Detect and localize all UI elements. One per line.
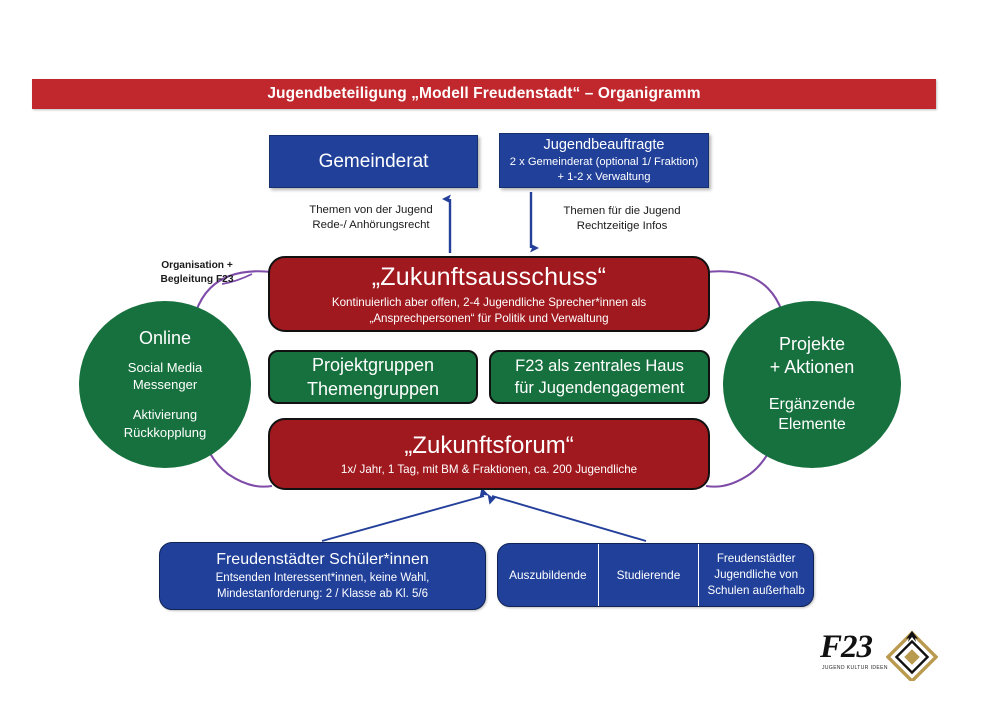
box-jugendbeauftragte-heading: Jugendbeauftragte	[544, 137, 665, 155]
label-themen-fuer-die-jugend: Themen für die Jugend Rechtzeitige Infos	[547, 204, 697, 235]
column-jugendliche-schulen-ausserhalb[interactable]: Freudenstädter Jugendliche von Schulen a…	[698, 544, 813, 606]
page-title: Jugendbeteiligung „Modell Freudenstadt“ …	[267, 85, 700, 103]
box-projektgruppen-heading: Projektgruppen Themengruppen	[307, 353, 439, 402]
box-zukunftsforum-subtext: 1x/ Jahr, 1 Tag, mit BM & Fraktionen, ca…	[341, 463, 637, 477]
box-projektgruppen[interactable]: Projektgruppen Themengruppen	[268, 350, 478, 404]
box-zukunftsforum[interactable]: „Zukunftsforum“ 1x/ Jahr, 1 Tag, mit BM …	[268, 418, 710, 490]
box-zukunftsausschuss-subtext: Kontinuierlich aber offen, 2-4 Jugendlic…	[280, 295, 698, 326]
circle-online-line2: Aktivierung Rückkopplung	[124, 406, 206, 441]
f23-logo-wordmark: F23	[820, 629, 872, 666]
arrow-weitere-to-forum	[492, 496, 646, 541]
box-weitere-zielgruppen[interactable]: Auszubildende Studierende Freudenstädter…	[497, 543, 814, 607]
column-auszubildende[interactable]: Auszubildende	[498, 544, 598, 606]
f23-logo-tagline: JUGEND KULTUR IDEEN	[822, 665, 888, 671]
box-gemeinderat[interactable]: Gemeinderat	[269, 135, 478, 188]
box-f23-zentrales-haus[interactable]: F23 als zentrales Haus für Jugendengagem…	[489, 350, 710, 404]
label-organisation-begleitung-f23: Organisation + Begleitung F23	[147, 259, 247, 288]
circle-projekte-heading: Projekte + Aktionen	[770, 333, 855, 380]
box-schuelerinnen-heading: Freudenstädter Schüler*innen	[216, 550, 429, 570]
box-gemeinderat-heading: Gemeinderat	[319, 150, 429, 173]
circle-online-heading: Online	[139, 328, 191, 350]
f23-logo: F23 JUGEND KULTUR IDEEN	[818, 627, 940, 685]
box-f23-haus-heading: F23 als zentrales Haus für Jugendengagem…	[515, 355, 685, 400]
box-zukunftsausschuss-heading: „Zukunftsausschuss“	[372, 262, 606, 293]
arrow-schuelerinnen-to-forum	[322, 496, 484, 541]
circle-online[interactable]: Online Social Media Messenger Aktivierun…	[79, 301, 251, 468]
box-jugendbeauftragte[interactable]: Jugendbeauftragte 2 x Gemeinderat (optio…	[499, 133, 709, 188]
box-freudenstaedter-schuelerinnen[interactable]: Freudenstädter Schüler*innen Entsenden I…	[159, 542, 486, 610]
box-schuelerinnen-subtext: Entsenden Interessent*innen, keine Wahl,…	[168, 571, 477, 602]
f23-diamond-emblem	[886, 629, 938, 681]
column-studierende[interactable]: Studierende	[598, 544, 699, 606]
box-zukunftsausschuss[interactable]: „Zukunftsausschuss“ Kontinuierlich aber …	[268, 256, 710, 332]
label-themen-von-der-jugend: Themen von der Jugend Rede-/ Anhörungsre…	[296, 203, 446, 234]
organigramm-slide: Jugendbeteiligung „Modell Freudenstadt“ …	[0, 0, 1000, 702]
box-jugendbeauftragte-subtext: 2 x Gemeinderat (optional 1/ Fraktion) +…	[506, 155, 702, 184]
circle-online-line1: Social Media Messenger	[128, 359, 202, 394]
circle-projekte-aktionen[interactable]: Projekte + Aktionen Ergänzende Elemente	[723, 301, 901, 468]
box-zukunftsforum-heading: „Zukunftsforum“	[404, 431, 573, 460]
circle-projekte-line2: Ergänzende Elemente	[769, 395, 855, 437]
page-title-banner: Jugendbeteiligung „Modell Freudenstadt“ …	[32, 79, 936, 109]
